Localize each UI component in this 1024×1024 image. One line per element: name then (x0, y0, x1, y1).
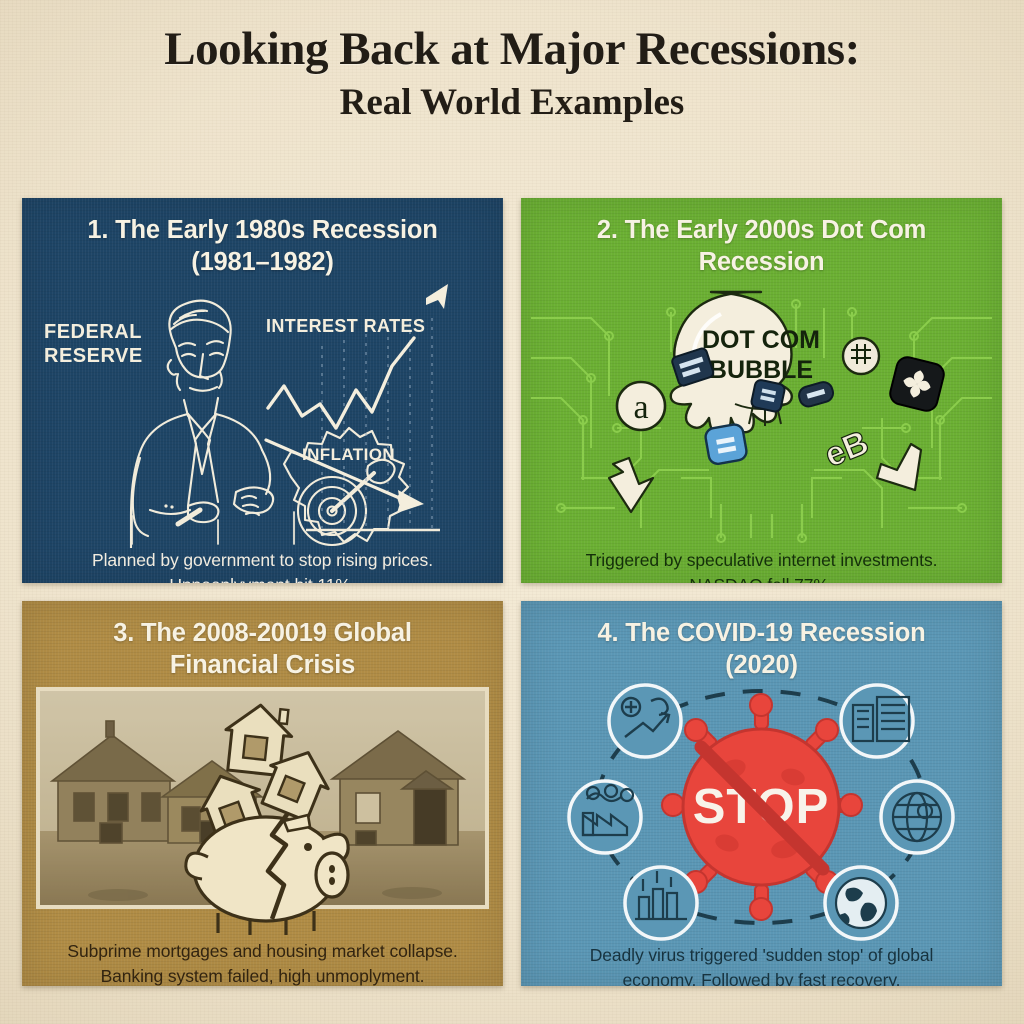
panel-2-caption: Triggered by speculative internet invest… (521, 548, 1002, 583)
interest-rates-line (268, 338, 414, 428)
chairman-tie (195, 430, 210, 474)
falling-chart-icon (609, 685, 681, 757)
closed-factory-icon (569, 781, 641, 853)
panel-3-title-line2: Financial Crisis (113, 650, 412, 682)
logo-circle-light (843, 338, 879, 374)
logo-tile-lightblue (704, 423, 748, 465)
panel-grid: 1. The Early 1980s Recession (1981–1982) (22, 198, 1002, 1002)
panel-4-artwork: STOP (521, 681, 1002, 943)
federal-reserve-label-line1: FEDERAL (44, 321, 142, 343)
chairman-ear (168, 360, 176, 375)
covid-stop-illustration: STOP (521, 681, 1002, 943)
crash-arrow-right (877, 444, 921, 490)
panel-3-caption-line1: Subprime mortgages and housing market co… (46, 939, 479, 964)
chairman-head (169, 301, 230, 378)
panel-3-title: 3. The 2008-20019 Global Financial Crisi… (87, 618, 438, 681)
chairman-right-hand (234, 488, 273, 514)
panel-4-title-line1: 4. The COVID-19 Recession (597, 618, 925, 650)
chairman-cuff-button-1 (164, 505, 167, 508)
panel-2-title: 2. The Early 2000s Dot Com Recession (571, 215, 952, 278)
panel-4-caption-line1: Deadly virus triggered 'sudden stop' of … (545, 943, 978, 968)
chairman-mouth (190, 387, 217, 391)
panel-1-caption: Planned by government to stop rising pri… (22, 548, 503, 583)
dot-com-bubble-illustration: DOT COM BUBBLE a (521, 278, 1002, 548)
panel-2-caption-line2: NASDAQ fell 77%. (545, 573, 978, 583)
panel-2-title-line1: 2. The Early 2000s Dot Com (597, 215, 926, 247)
logo-ebay: eB (819, 424, 874, 476)
page-title-line2: Real World Examples (0, 81, 1024, 125)
logo-tile-navy-square (750, 379, 785, 413)
panel-1-title: 1. The Early 1980s Recession (1981–1982) (61, 215, 463, 278)
podium-legs (132, 512, 294, 544)
panel-3-caption-line2: Banking system failed, high unmoplyment. (46, 964, 479, 986)
panel-global-financial-crisis[interactable]: 3. The 2008-20019 Global Financial Crisi… (22, 601, 503, 986)
panel-2-artwork: DOT COM BUBBLE a (521, 278, 1002, 548)
panel-2-caption-line1: Triggered by speculative internet invest… (545, 548, 978, 573)
federal-reserve-label-line2: RESERVE (44, 345, 143, 367)
office-building-icon (841, 685, 913, 757)
panel-dot-com-recession[interactable]: 2. The Early 2000s Dot Com Recession (521, 198, 1002, 583)
panel-3-title-line1: 3. The 2008-20019 Global (113, 618, 412, 650)
inflation-label: INFLATION (302, 445, 395, 464)
chairman-cuff (150, 510, 190, 514)
housing-crisis-photo-illustration (22, 681, 503, 939)
panel-covid-19-recession[interactable]: 4. The COVID-19 Recession (2020) (521, 601, 1002, 986)
panel-early-1980s-recession[interactable]: 1. The Early 1980s Recession (1981–1982) (22, 198, 503, 583)
logo-eb-letters: eB (819, 424, 874, 476)
piggy-snout (316, 853, 348, 897)
panel-3-caption: Subprime mortgages and housing market co… (22, 939, 503, 986)
panel-4-caption: Deadly virus triggered 'sudden stop' of … (521, 943, 1002, 986)
globe-wireframe-icon (881, 781, 953, 853)
chairman-nose (200, 354, 208, 379)
page-header: Looking Back at Major Recessions: Real W… (0, 24, 1024, 125)
chairman-jacket-left (131, 414, 188, 548)
panel-1-caption-line2: Unneeplyyment hit 11%. (46, 573, 479, 583)
earth-globe-icon (825, 867, 897, 939)
chairman-cuff-button-2 (170, 506, 173, 509)
panel-1-artwork: FEDERAL RESERVE INTEREST RATES INFLATION (22, 278, 503, 548)
panel-1-title-line1: 1. The Early 1980s Recession (87, 215, 437, 247)
chairman-eyebrows (179, 341, 223, 346)
interest-rates-label: INTEREST RATES (266, 316, 425, 336)
chairman-jacket-right (216, 414, 262, 450)
panel-1-title-line2: (1981–1982) (87, 247, 437, 279)
panel-4-title-line2: (2020) (597, 650, 925, 682)
factory-skyline-icon (625, 867, 697, 939)
chairman-hair-strands (174, 311, 207, 325)
chairman-neck (184, 398, 218, 416)
piggy-eye (304, 843, 312, 851)
fed-chairman-and-rates-illustration: FEDERAL RESERVE INTEREST RATES INFLATION (22, 278, 503, 548)
panel-4-caption-line2: economy. Followed by fast recovery. (545, 968, 978, 986)
panel-4-title: 4. The COVID-19 Recession (2020) (571, 618, 951, 681)
panel-1-caption-line1: Planned by government to stop rising pri… (46, 548, 479, 573)
crash-arrow-left (609, 458, 653, 512)
panel-2-title-line2: Recession (597, 247, 926, 279)
crash-arrows (609, 444, 921, 512)
logo-tile-black-pinwheel (888, 355, 946, 413)
logo-a-letter: a (633, 389, 648, 426)
page-title-line1: Looking Back at Major Recessions: (0, 24, 1024, 75)
interest-rates-arrowhead (426, 284, 448, 309)
bubble-text-line1: DOT COM (702, 326, 820, 354)
chairman-right-sleeve (262, 450, 270, 494)
logo-tile-dark-pill (797, 380, 835, 409)
panel-3-artwork (22, 681, 503, 939)
